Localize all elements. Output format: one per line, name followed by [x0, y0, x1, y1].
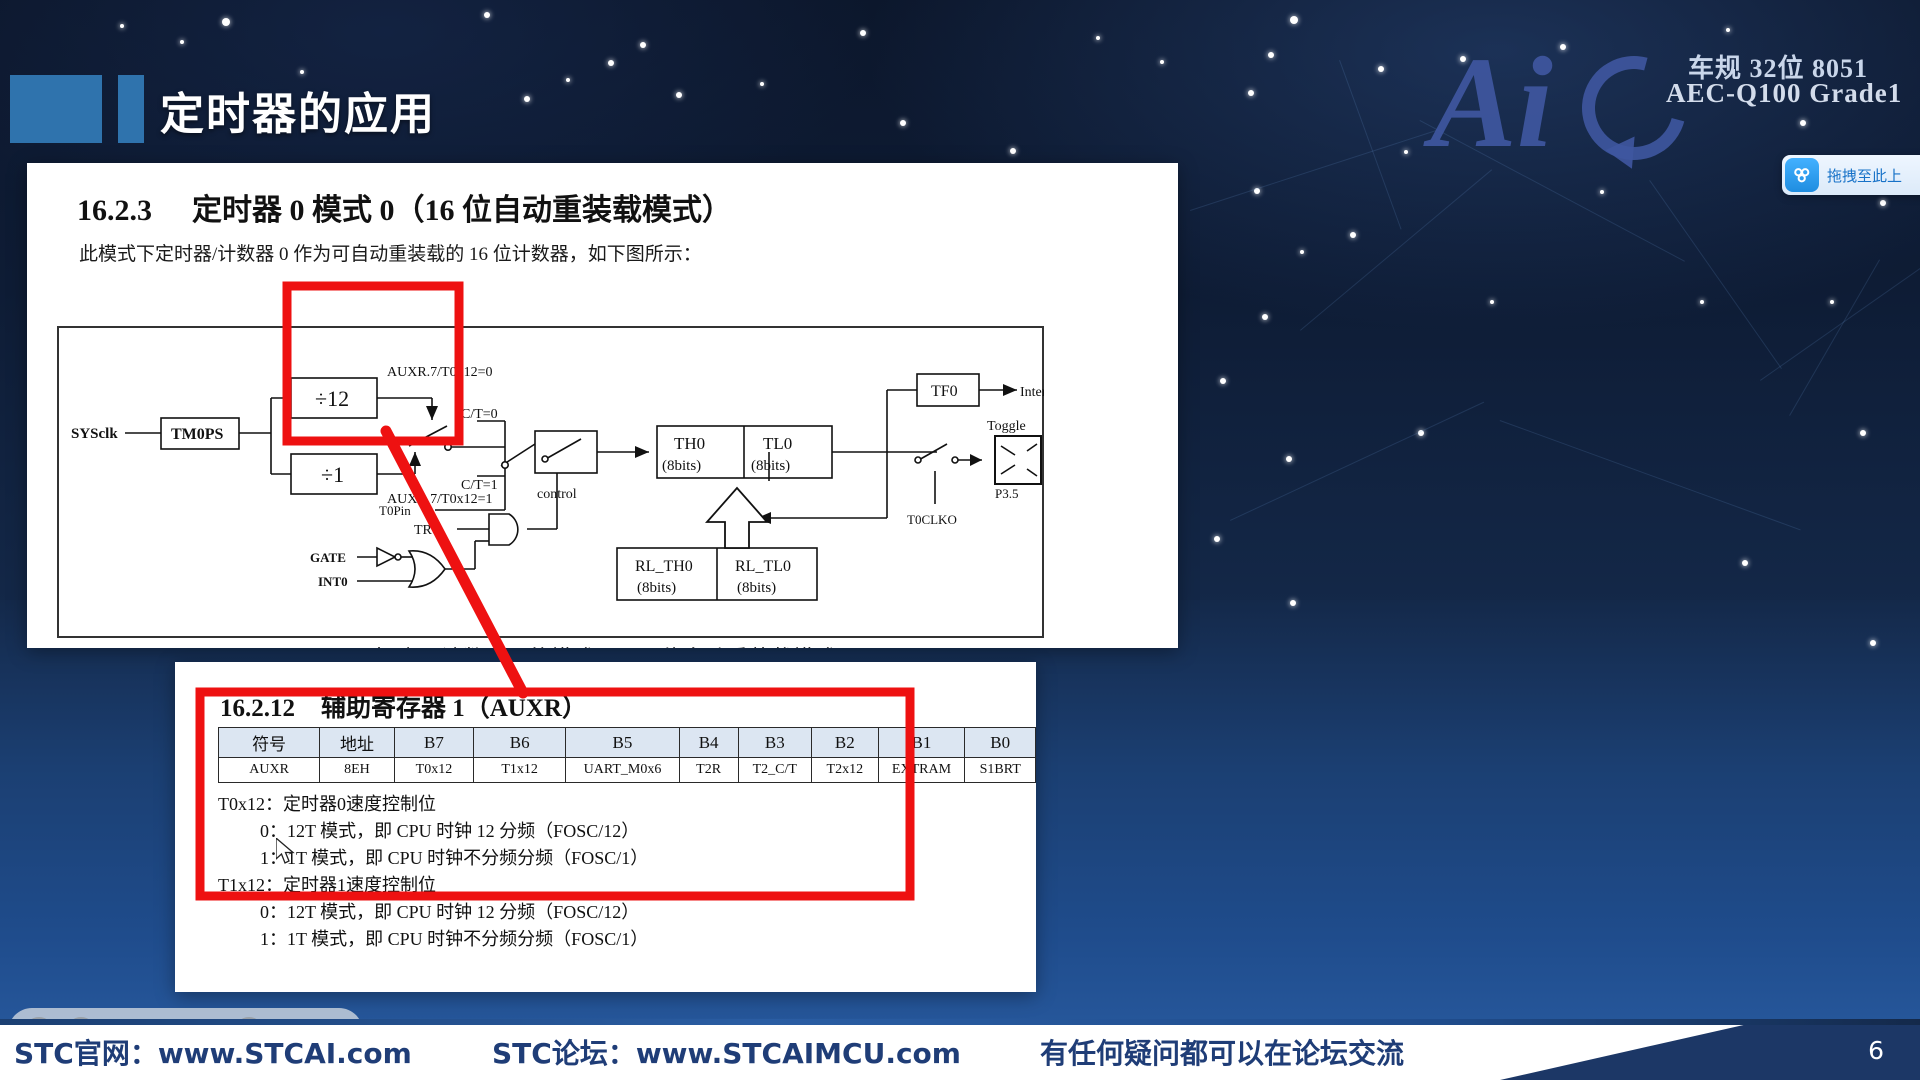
svg-text:(8bits): (8bits) [751, 458, 790, 474]
header-accent-square [10, 75, 102, 143]
cell-b3: T2_C/T [738, 758, 812, 783]
note-t1x12-value0: 0：12T 模式，即 CPU 时钟 12 分频（FOSC/12） [260, 898, 639, 924]
register-panel-auxr: 16.2.12辅助寄存器 1（AUXR） 符号 地址 B7 B6 B5 B4 B… [175, 662, 1036, 992]
col-b7: B7 [394, 728, 473, 758]
svg-text:÷1: ÷1 [321, 462, 344, 487]
svg-text:TF0: TF0 [931, 383, 958, 400]
svg-text:SYSclk: SYSclk [71, 426, 118, 442]
svg-text:T0CLKO: T0CLKO [907, 512, 957, 527]
cell-b2: T2x12 [812, 758, 878, 783]
cell-b0: S1BRT [965, 758, 1036, 783]
svg-text:Interrupt: Interrupt [1020, 385, 1044, 400]
cell-b6: T1x12 [474, 758, 566, 783]
svg-text:T0Pin: T0Pin [379, 503, 411, 518]
svg-text:C/T=0: C/T=0 [461, 407, 498, 422]
svg-text:C/T=1: C/T=1 [461, 478, 498, 493]
section-number: 16.2.3 [77, 194, 152, 227]
note-t1x12-title: T1x12：定时器1速度控制位 [218, 871, 436, 897]
table-row: AUXR 8EH T0x12 T1x12 UART_M0x6 T2R T2_C/… [219, 758, 1036, 783]
svg-text:INT0: INT0 [318, 574, 348, 589]
register-section-heading: 16.2.12辅助寄存器 1（AUXR） [220, 688, 587, 724]
page-number: 6 [1868, 1036, 1884, 1065]
section-paragraph: 此模式下定时器/计数器 0 作为可自动重装载的 16 位计数器，如下图所示： [79, 239, 702, 266]
note-t1x12-value1: 1：1T 模式，即 CPU 时钟不分频分频（FOSC/1） [260, 925, 648, 951]
cell-symbol: AUXR [219, 758, 320, 783]
svg-text:÷12: ÷12 [315, 386, 349, 411]
svg-text:GATE: GATE [310, 550, 346, 565]
col-b4: B4 [679, 728, 738, 758]
table-header-row: 符号 地址 B7 B6 B5 B4 B3 B2 B1 B0 [219, 728, 1036, 758]
auxr-register-table: 符号 地址 B7 B6 B5 B4 B3 B2 B1 B0 AUXR 8EH T… [218, 727, 1036, 783]
cell-b7: T0x12 [394, 758, 473, 783]
svg-text:TR0: TR0 [414, 523, 439, 538]
footer-site-label: STC官网：www.STCAI.com [14, 1032, 412, 1072]
col-symbol: 符号 [219, 728, 320, 758]
svg-text:TH0: TH0 [674, 434, 705, 453]
col-b3: B3 [738, 728, 812, 758]
footer-forum-label: STC论坛：www.STCAIMCU.com [492, 1032, 961, 1072]
brand-tagline-line2: AEC-Q100 Grade1 [1666, 78, 1902, 109]
slide-header: 定时器的应用 [0, 0, 1920, 163]
baidu-netdisk-icon [1785, 158, 1819, 192]
svg-text:TM0PS: TM0PS [171, 426, 224, 443]
header-accent-bar [118, 75, 144, 143]
cell-b5: UART_M0x6 [566, 758, 679, 783]
svg-text:P3.5: P3.5 [995, 486, 1018, 501]
col-b5: B5 [566, 728, 679, 758]
document-panel-timer-mode: 16.2.3定时器 0 模式 0（16 位自动重装载模式） 此模式下定时器/计数… [27, 163, 1178, 648]
footer-note-label: 有任何疑问都可以在论坛交流 [1040, 1032, 1404, 1072]
timer0-block-diagram: SYSclk TM0PS ÷12 ÷1 AUXR.7/T0x12=0 AUXR.… [57, 326, 1044, 638]
register-section-title: 辅助寄存器 1（AUXR） [321, 695, 587, 722]
page-title: 定时器的应用 [160, 78, 436, 142]
svg-text:AUXR.7/T0x12=0: AUXR.7/T0x12=0 [387, 365, 493, 380]
col-b1: B1 [878, 728, 965, 758]
col-address: 地址 [320, 728, 395, 758]
mouse-cursor [276, 838, 298, 868]
figure-caption: 定时器/计数器 0 的模式 0：16 位自动重装载模式 [27, 641, 1178, 648]
svg-text:control: control [537, 487, 577, 502]
svg-text:(8bits): (8bits) [637, 580, 676, 596]
netdisk-upload-pill[interactable]: 拖拽至此上 [1782, 155, 1920, 195]
note-t0x12-title: T0x12：定时器0速度控制位 [218, 790, 436, 816]
svg-text:RL_TL0: RL_TL0 [735, 558, 791, 575]
note-t0x12-value0: 0：12T 模式，即 CPU 时钟 12 分频（FOSC/12） [260, 817, 639, 843]
col-b0: B0 [965, 728, 1036, 758]
svg-text:Toggle: Toggle [987, 419, 1026, 434]
cell-b1: EXTRAM [878, 758, 965, 783]
svg-text:(8bits): (8bits) [662, 458, 701, 474]
svg-text:RL_TH0: RL_TH0 [635, 558, 693, 575]
note-t0x12-value1: 1：1T 模式，即 CPU 时钟不分频分频（FOSC/1） [260, 844, 648, 870]
section-title: 定时器 0 模式 0（16 位自动重装载模式） [192, 194, 732, 227]
cell-address: 8EH [320, 758, 395, 783]
svg-text:(8bits): (8bits) [737, 580, 776, 596]
section-heading: 16.2.3定时器 0 模式 0（16 位自动重装载模式） [77, 185, 732, 229]
col-b6: B6 [474, 728, 566, 758]
netdisk-upload-label: 拖拽至此上 [1827, 165, 1902, 186]
register-section-number: 16.2.12 [220, 695, 295, 722]
cell-b4: T2R [679, 758, 738, 783]
svg-text:TL0: TL0 [763, 434, 792, 453]
col-b2: B2 [812, 728, 878, 758]
